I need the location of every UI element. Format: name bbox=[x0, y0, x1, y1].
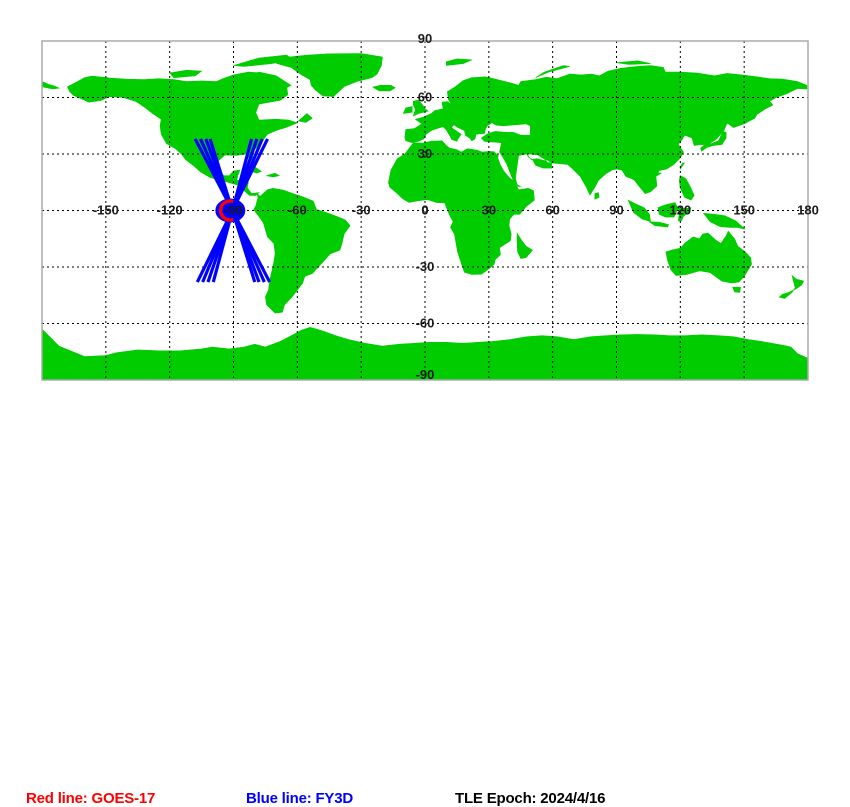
lon-label--150: -150 bbox=[93, 203, 119, 218]
lon-label-180: 180 bbox=[797, 203, 819, 218]
legend-tle-epoch: TLE Epoch: 2024/4/16 bbox=[455, 790, 605, 807]
lat-label--90: -90 bbox=[416, 367, 435, 382]
lon-label--90: -90 bbox=[224, 203, 243, 218]
lon-label-90: 90 bbox=[609, 203, 623, 218]
legend-footer: Red line: GOES-17 Blue line: FY3D TLE Ep… bbox=[0, 390, 850, 425]
legend-blue-line-fy3d: Blue line: FY3D bbox=[246, 790, 353, 807]
lat-label-30: 30 bbox=[418, 146, 432, 161]
lat-label--60: -60 bbox=[416, 316, 435, 331]
lat-label-0: 0 bbox=[421, 203, 428, 218]
lat-label-90: 90 bbox=[418, 31, 432, 46]
lon-label-30: 30 bbox=[482, 203, 496, 218]
lon-label-60: 60 bbox=[545, 203, 559, 218]
lon-label-150: 150 bbox=[733, 203, 755, 218]
world-map-panel: -300306090120150180-150-120-90-609060300… bbox=[0, 0, 850, 390]
lat-label-60: 60 bbox=[418, 90, 432, 105]
legend-red-line-goes17: Red line: GOES-17 bbox=[26, 790, 155, 807]
lon-label--30: -30 bbox=[352, 203, 371, 218]
world-map-svg: -300306090120150180-150-120-90-609060300… bbox=[0, 0, 850, 390]
lon-label--120: -120 bbox=[157, 203, 183, 218]
lon-label--60: -60 bbox=[288, 203, 307, 218]
lon-label-120: 120 bbox=[669, 203, 691, 218]
satellite-ground-track-page: -300306090120150180-150-120-90-609060300… bbox=[0, 0, 850, 425]
lat-label--30: -30 bbox=[416, 259, 435, 274]
